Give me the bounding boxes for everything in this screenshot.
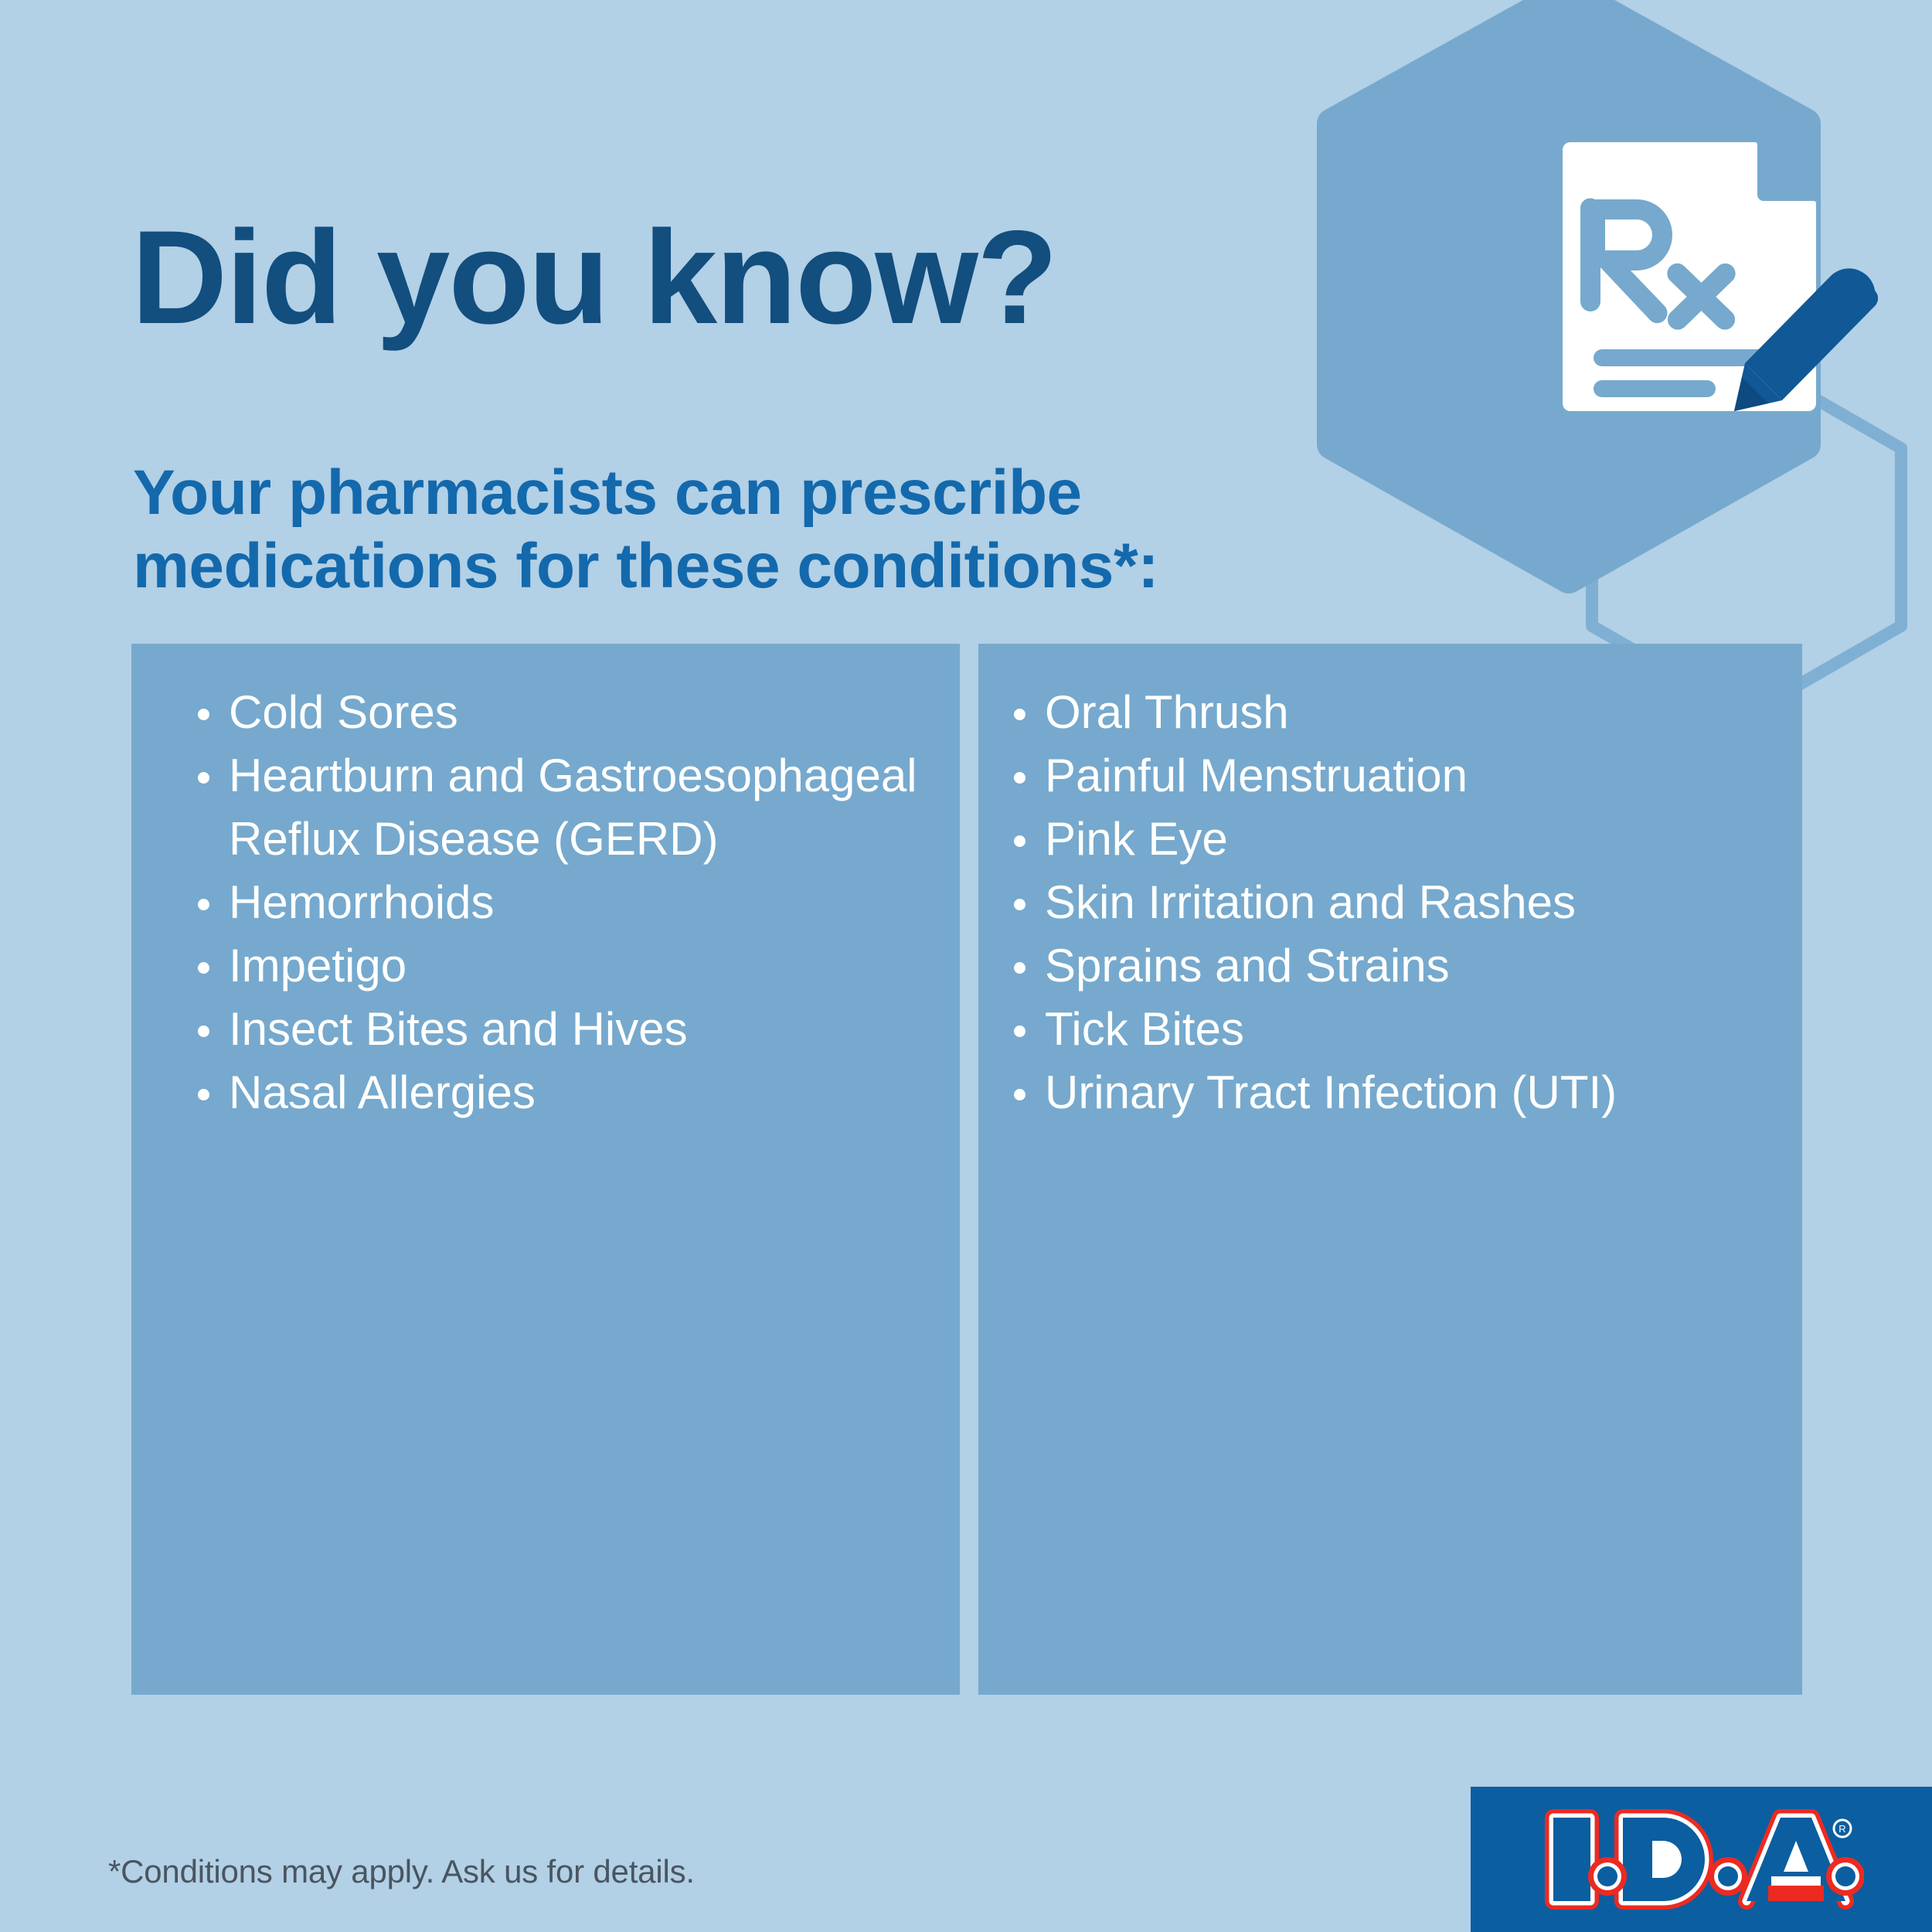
subtitle-line-1: Your pharmacists can prescribe	[133, 456, 1158, 529]
list-item: Insect Bites and Hives	[192, 998, 960, 1061]
list-item: Tick Bites	[1008, 998, 1787, 1061]
list-item: Heartburn and Gastroesophageal Reflux Di…	[192, 744, 960, 871]
logo-dot-1	[1588, 1857, 1627, 1896]
logo-dot-2	[1709, 1857, 1747, 1896]
list-item: Urinary Tract Infection (UTI)	[1008, 1061, 1787, 1124]
svg-text:R: R	[1838, 1823, 1845, 1835]
conditions-list-left: Cold Sores Heartburn and Gastroesophagea…	[192, 681, 960, 1124]
paper-line-3	[1705, 414, 1791, 431]
subtitle-line-2: medications for these conditions*:	[133, 529, 1158, 603]
list-item: Painful Menstruation	[1008, 744, 1787, 808]
list-item: Sprains and Strains	[1008, 934, 1787, 998]
footnote-disclaimer: *Conditions may apply. Ask us for detail…	[108, 1853, 695, 1890]
registered-mark-icon: R	[1834, 1820, 1851, 1837]
list-item: Pink Eye	[1008, 808, 1787, 871]
rx-prescription-document-icon	[1553, 131, 1878, 456]
list-item: Nasal Allergies	[192, 1061, 960, 1124]
list-item: Impetigo	[192, 934, 960, 998]
list-item: Cold Sores	[192, 681, 960, 744]
list-item: Hemorrhoids	[192, 871, 960, 934]
page-title: Did you know?	[131, 211, 1056, 344]
conditions-list-right: Oral Thrush Painful Menstruation Pink Ey…	[1008, 681, 1802, 1124]
list-item: Skin Irritation and Rashes	[1008, 871, 1787, 934]
ida-logo-plate: R	[1471, 1787, 1932, 1932]
page-subtitle: Your pharmacists can prescribe medicatio…	[133, 456, 1158, 603]
list-item: Oral Thrush	[1008, 681, 1787, 744]
poster-canvas: Did you know? Your pharmacists can presc…	[0, 0, 1932, 1932]
ida-logo-icon: R	[1539, 1805, 1864, 1913]
logo-dot-3	[1826, 1857, 1864, 1896]
paper-line-2	[1594, 380, 1716, 397]
conditions-panel-right: Oral Thrush Painful Menstruation Pink Ey…	[978, 644, 1802, 1695]
conditions-panel-left: Cold Sores Heartburn and Gastroesophagea…	[131, 644, 960, 1695]
